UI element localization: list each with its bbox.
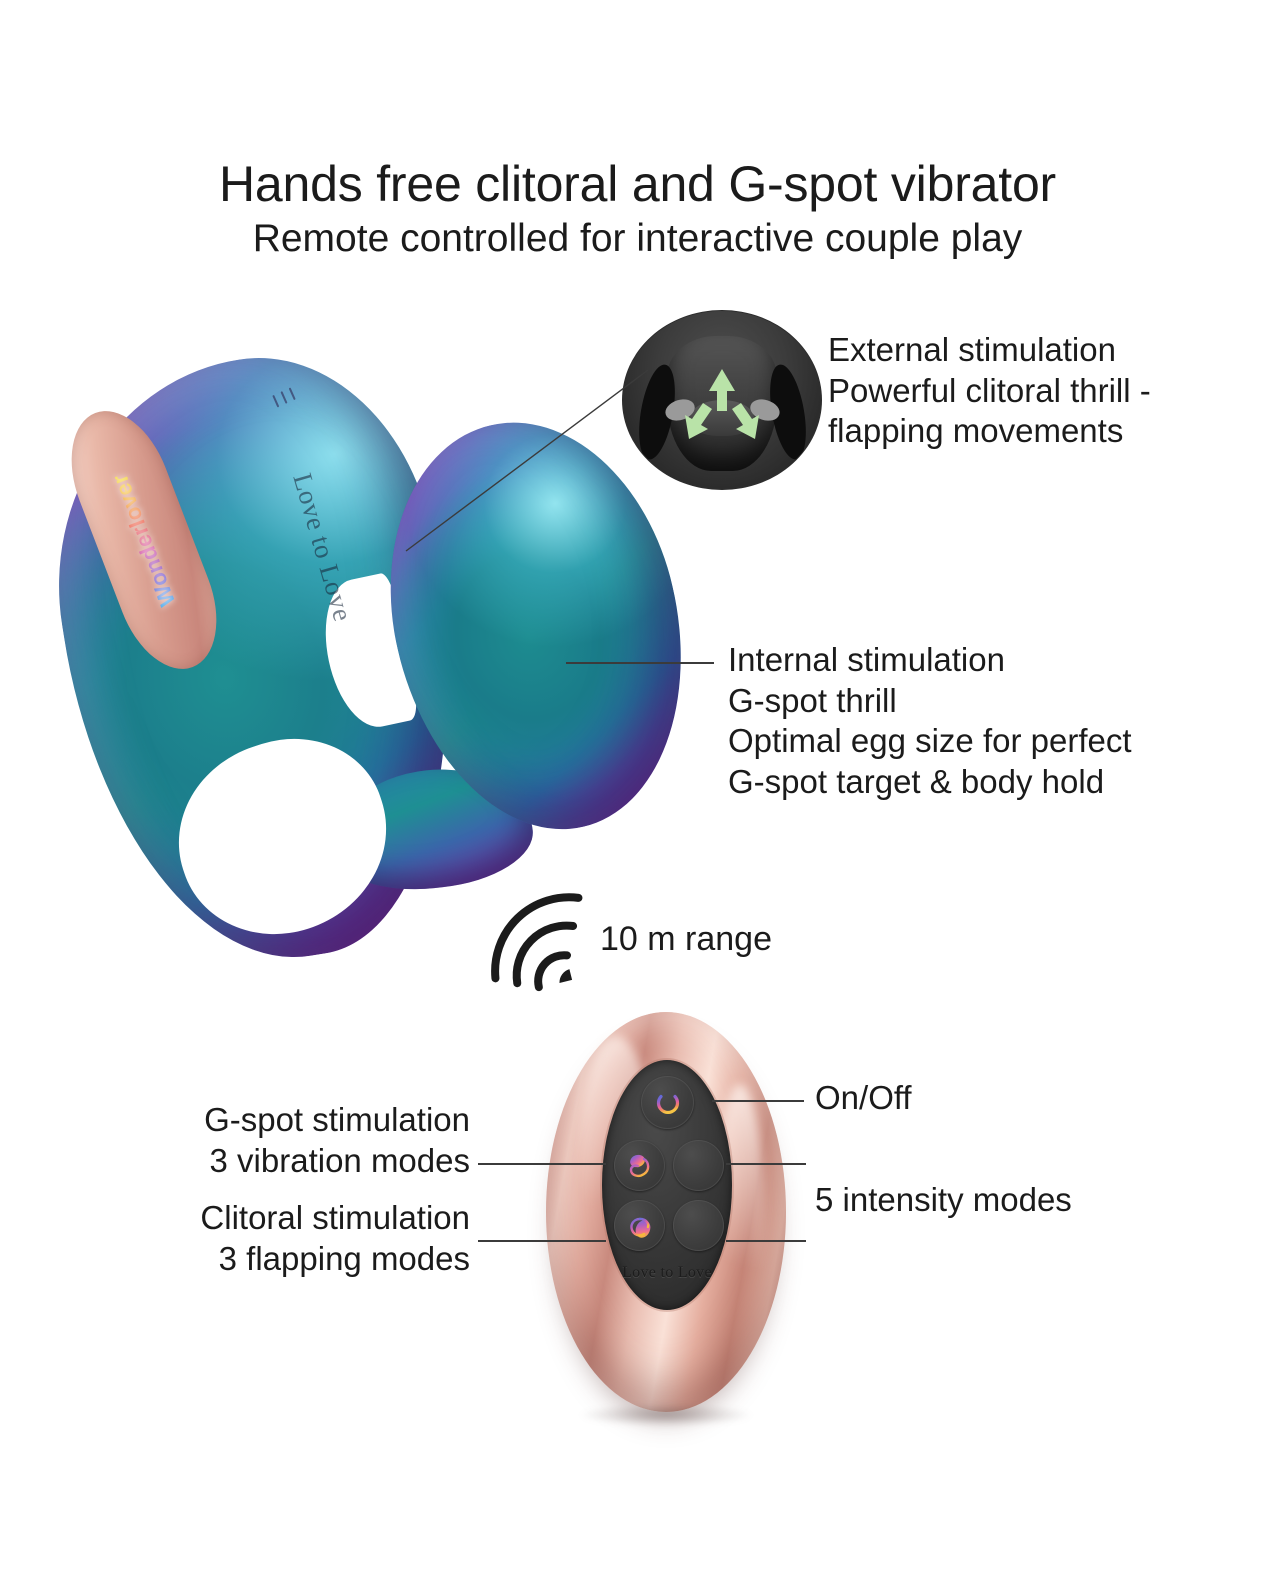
range-label: 10 m range [600,920,772,959]
external-line-1: External stimulation [828,330,1151,371]
external-line-3: flapping movements [828,411,1151,452]
internal-line-2: G-spot thrill [728,681,1132,722]
infographic-page: Hands free clitoral and G-spot vibrator … [0,0,1275,1575]
callout-power: On/Off [815,1078,912,1119]
intensity-down-button[interactable] [673,1200,724,1251]
power-icon [653,1088,683,1118]
clitoral-toy-icon [624,1210,656,1242]
external-line-2: Powerful clitoral thrill - [828,371,1151,412]
leader-line-clitoral [478,1240,606,1242]
leader-line-intensity-down [726,1240,806,1242]
callout-gspot: G-spot stimulation 3 vibration modes [110,1100,470,1181]
movement-arrows [623,311,821,489]
callout-clitoral: Clitoral stimulation 3 flapping modes [110,1198,470,1279]
gspot-line-1: G-spot stimulation [110,1100,470,1141]
page-subtitle: Remote controlled for interactive couple… [0,217,1275,261]
clitoral-mode-button[interactable] [614,1200,665,1251]
range-block: 10 m range [478,890,818,994]
callout-external-stimulation: External stimulation Powerful clitoral t… [828,330,1151,452]
internal-line-3: Optimal egg size for perfect [728,721,1132,762]
clitoral-line-1: Clitoral stimulation [110,1198,470,1239]
remote-drop-shadow [580,1404,752,1426]
closeup-background [623,311,821,489]
gspot-toy-icon [624,1150,656,1182]
gspot-line-2: 3 vibration modes [110,1141,470,1182]
remote-face-panel: Love to Love [602,1060,732,1310]
clitoral-line-2: 3 flapping modes [110,1239,470,1280]
minus-icon [684,1211,714,1241]
leader-line-gspot [478,1163,606,1165]
plus-icon [684,1151,714,1181]
page-title: Hands free clitoral and G-spot vibrator [0,158,1275,211]
intensity-up-button[interactable] [673,1140,724,1191]
intensity-label: 5 intensity modes [815,1180,1072,1221]
remote-brand-text: Love to Love [602,1264,732,1282]
remote-control[interactable]: Love to Love [540,1012,794,1422]
flapping-mechanism-closeup [622,310,822,490]
gspot-mode-button[interactable] [614,1140,665,1191]
wifi-signal-icon [478,890,608,994]
wonderlover-brand-text: Wonderlover [107,470,181,610]
callout-internal-stimulation: Internal stimulation G-spot thrill Optim… [728,640,1132,802]
internal-line-1: Internal stimulation [728,640,1132,681]
leader-line-power [712,1100,804,1102]
header-block: Hands free clitoral and G-spot vibrator … [0,158,1275,261]
internal-line-4: G-spot target & body hold [728,762,1132,803]
power-button[interactable] [641,1076,694,1129]
leader-line-internal [566,662,714,664]
power-label: On/Off [815,1078,912,1119]
callout-intensity: 5 intensity modes [815,1180,1072,1221]
leader-line-intensity-up [726,1163,806,1165]
